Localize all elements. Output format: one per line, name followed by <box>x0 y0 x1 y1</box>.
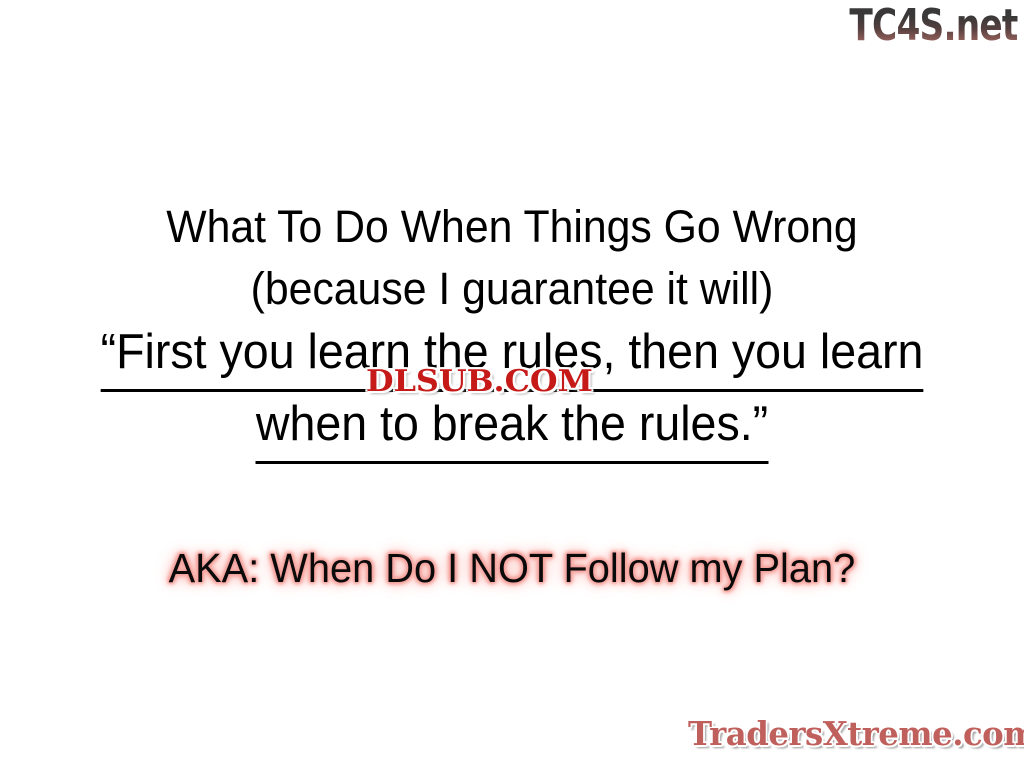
title-line-1: What To Do When Things Go Wrong <box>26 196 999 258</box>
watermark-top-right: TC4S.net <box>850 2 1018 50</box>
watermark-bottom-right: TradersXtreme.com <box>688 714 1024 754</box>
subtitle-row: AKA: When Do I NOT Follow my Plan? <box>0 544 1024 592</box>
quote-line-2-row: when to break the rules.” <box>26 392 999 464</box>
title-line-2: (because I guarantee it will) <box>26 258 999 320</box>
quote-line-2: when to break the rules.” <box>256 392 768 464</box>
watermark-center: DLSUB.COM <box>366 366 593 398</box>
slide-canvas: TC4S.net What To Do When Things Go Wrong… <box>0 0 1024 768</box>
slide-text-block: What To Do When Things Go Wrong (because… <box>0 196 1024 464</box>
subtitle-aka: AKA: When Do I NOT Follow my Plan? <box>169 544 856 592</box>
